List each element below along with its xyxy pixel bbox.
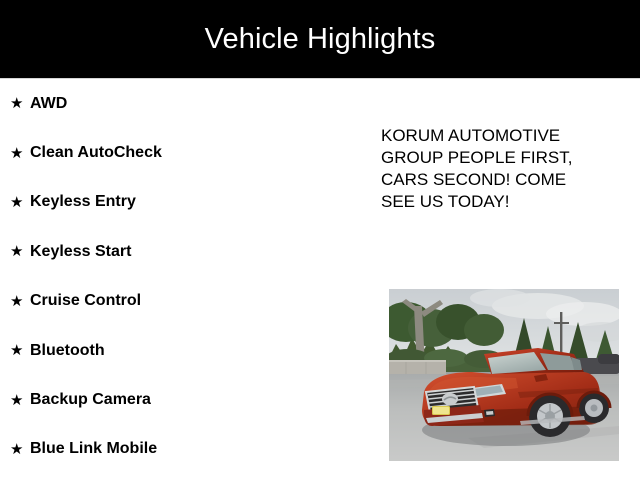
vehicle-features-list: ★ AWD ★ Clean AutoCheck ★ Keyless Entry …	[0, 79, 380, 474]
list-item: ★ Blue Link Mobile	[0, 425, 380, 474]
feature-label: AWD	[30, 96, 67, 112]
dealer-blurb: KORUM AUTOMOTIVE GROUP PEOPLE FIRST, CAR…	[381, 125, 593, 213]
feature-label: Keyless Start	[30, 244, 131, 260]
star-icon: ★	[10, 195, 30, 210]
list-item: ★ Keyless Start	[0, 227, 380, 276]
feature-label: Backup Camera	[30, 392, 151, 408]
feature-label: Bluetooth	[30, 343, 105, 359]
star-icon: ★	[10, 96, 30, 111]
star-icon: ★	[10, 442, 30, 457]
feature-label: Cruise Control	[30, 293, 141, 309]
feature-label: Blue Link Mobile	[30, 441, 157, 457]
page-title: Vehicle Highlights	[205, 25, 436, 54]
vehicle-photo	[388, 288, 620, 462]
star-icon: ★	[10, 146, 30, 161]
list-item: ★ Cruise Control	[0, 277, 380, 326]
feature-label: Keyless Entry	[30, 194, 136, 210]
feature-label: Clean AutoCheck	[30, 145, 162, 161]
list-item: ★ AWD	[0, 79, 380, 128]
vehicle-photo-illustration	[388, 288, 620, 462]
star-icon: ★	[10, 294, 30, 309]
page-header: Vehicle Highlights	[0, 0, 640, 78]
list-item: ★ Backup Camera	[0, 375, 380, 424]
list-item: ★ Clean AutoCheck	[0, 128, 380, 177]
content-area: ★ AWD ★ Clean AutoCheck ★ Keyless Entry …	[0, 79, 640, 480]
star-icon: ★	[10, 244, 30, 259]
star-icon: ★	[10, 393, 30, 408]
list-item: ★ Bluetooth	[0, 326, 380, 375]
list-item: ★ Keyless Entry	[0, 178, 380, 227]
star-icon: ★	[10, 343, 30, 358]
